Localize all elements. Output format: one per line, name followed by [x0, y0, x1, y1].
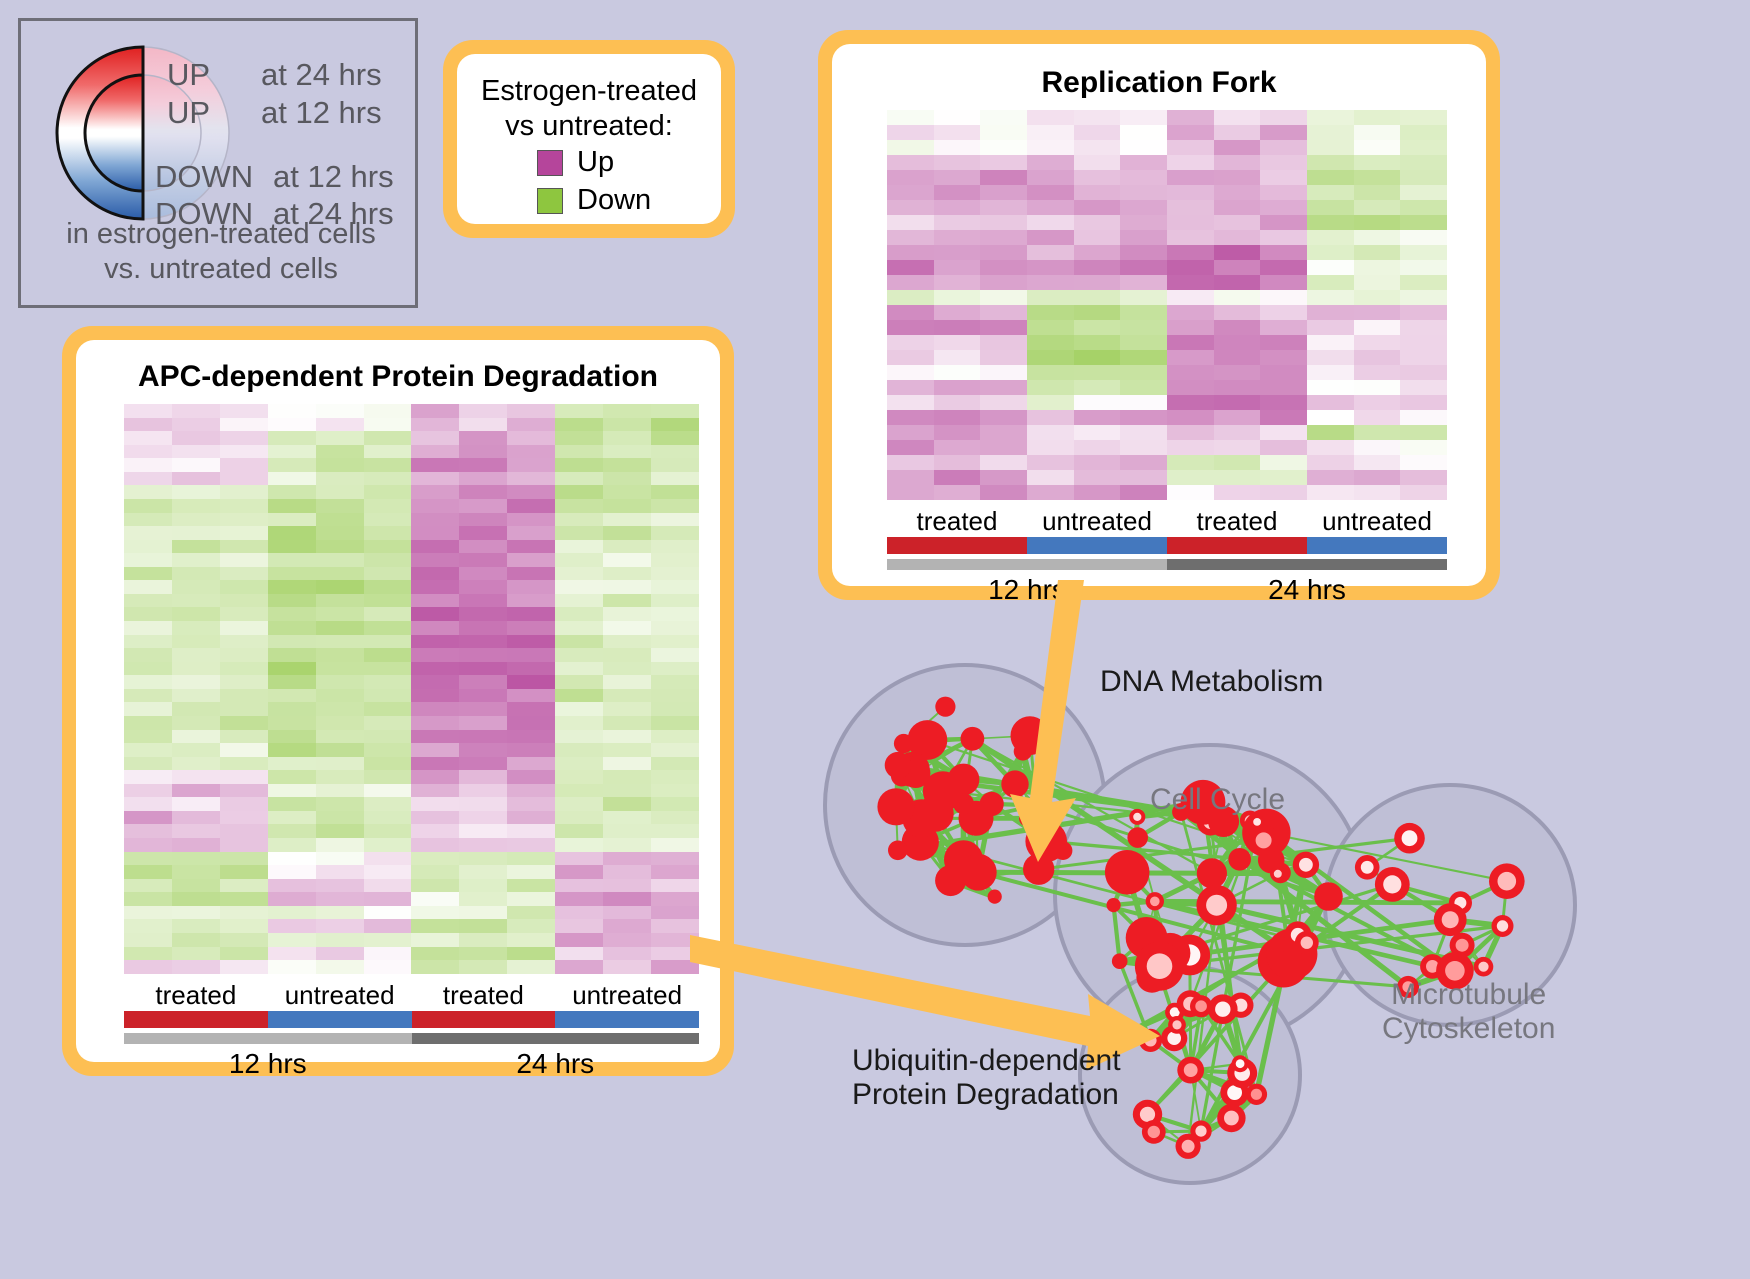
network-node[interactable] — [894, 734, 913, 753]
network-node[interactable] — [1127, 827, 1148, 848]
heatmap-cell — [1120, 140, 1167, 155]
heatmap-cell — [1120, 305, 1167, 320]
heatmap-cell — [1214, 245, 1261, 260]
heatmap-cell — [651, 960, 699, 974]
heatmap-cell — [1307, 485, 1354, 500]
network-node[interactable] — [1394, 823, 1425, 854]
network-node[interactable] — [1492, 915, 1514, 937]
treatment-bar-segment — [124, 1011, 268, 1028]
heatmap-cell — [1354, 425, 1401, 440]
heatmap-cell — [507, 513, 555, 527]
network-node[interactable] — [1375, 867, 1410, 902]
heatmap-cell — [1120, 455, 1167, 470]
heatmap-cell — [411, 716, 459, 730]
heatmap-column — [1354, 110, 1401, 500]
heatmap-cell — [172, 784, 220, 798]
heatmap-cell — [1120, 110, 1167, 125]
heatmap-cell — [1307, 350, 1354, 365]
network-node[interactable] — [1135, 942, 1184, 991]
network-node[interactable] — [1295, 931, 1319, 955]
heatmap-cell — [220, 513, 268, 527]
network-node[interactable] — [888, 841, 908, 861]
heatmap-cell — [651, 770, 699, 784]
heatmap-cell — [172, 743, 220, 757]
heatmap-cell — [364, 838, 412, 852]
heatmap-cell — [1400, 365, 1447, 380]
heatmap-cell — [459, 431, 507, 445]
heatmap-cell — [1027, 395, 1074, 410]
heatmap-cell — [1167, 335, 1214, 350]
network-node[interactable] — [1142, 1120, 1166, 1144]
heatmap-cell — [268, 730, 316, 744]
heatmap-cell — [1354, 185, 1401, 200]
heatmap-cell — [268, 919, 316, 933]
heatmap-cell — [364, 811, 412, 825]
heatmap-cell — [220, 879, 268, 893]
heatmap-cell — [220, 716, 268, 730]
network-node[interactable] — [1105, 850, 1150, 895]
heatmap-cell — [603, 757, 651, 771]
key-label-down: Down — [577, 184, 651, 217]
heatmap-cell — [268, 580, 316, 594]
heatmap-cell — [411, 635, 459, 649]
heatmap-cell — [459, 404, 507, 418]
heatmap-cell — [1354, 290, 1401, 305]
heatmap-cell — [1260, 350, 1307, 365]
heatmap-cell — [555, 675, 603, 689]
heatmap-cell — [459, 702, 507, 716]
heatmap-cell — [1307, 320, 1354, 335]
heatmap-cell — [220, 499, 268, 513]
network-node[interactable] — [1208, 994, 1238, 1024]
network-node[interactable] — [988, 890, 1002, 904]
heatmap-cell — [316, 458, 364, 472]
heatmap-cell — [459, 635, 507, 649]
heatmap-cell — [555, 404, 603, 418]
network-node[interactable] — [1197, 858, 1227, 888]
heatmap-cell — [220, 607, 268, 621]
heatmap-cell — [651, 418, 699, 432]
heatmap-cell — [459, 919, 507, 933]
heatmap-cell — [1027, 440, 1074, 455]
heatmap-cell — [980, 245, 1027, 260]
network-node[interactable] — [1146, 892, 1164, 910]
heatmap-cell — [651, 743, 699, 757]
heatmap-cell — [1027, 365, 1074, 380]
heatmap-cell — [411, 784, 459, 798]
heatmap-cell — [507, 621, 555, 635]
heatmap-cell — [980, 215, 1027, 230]
heatmap-cell — [507, 553, 555, 567]
heatmap-cell — [1400, 470, 1447, 485]
heatmap-cell — [1167, 305, 1214, 320]
heatmap-cell — [1167, 455, 1214, 470]
time-bar-segment — [124, 1033, 412, 1044]
heatmap-cell — [364, 567, 412, 581]
key-title-line2: vs untreated: — [457, 109, 721, 144]
heatmap-cell — [1120, 335, 1167, 350]
heatmap-column — [1027, 110, 1074, 500]
heatmap-cell — [1214, 290, 1261, 305]
network-node[interactable] — [1434, 903, 1467, 936]
heatmap-cell — [1354, 380, 1401, 395]
heatmap-cell — [980, 365, 1027, 380]
heatmap-cell — [651, 458, 699, 472]
network-node[interactable] — [1001, 770, 1028, 797]
heatmap-cell — [1354, 170, 1401, 185]
network-node[interactable] — [1177, 1057, 1204, 1084]
heatmap-cell — [651, 811, 699, 825]
heatmap-cell — [220, 580, 268, 594]
heatmap-cell — [887, 275, 934, 290]
network-node[interactable] — [1196, 885, 1236, 925]
heatmap-cell — [1167, 200, 1214, 215]
heatmap-cell — [980, 455, 1027, 470]
heatmap-cell — [603, 933, 651, 947]
key-panel-inner: Estrogen-treated vs untreated: Up Down — [457, 54, 721, 224]
heatmap-cell — [124, 947, 172, 961]
heatmap-cell — [172, 919, 220, 933]
heatmap-cell — [411, 472, 459, 486]
network-node[interactable] — [935, 865, 966, 896]
heatmap-cell — [124, 811, 172, 825]
network-node[interactable] — [1014, 742, 1032, 760]
heatmap-cell — [268, 635, 316, 649]
network-node[interactable] — [961, 727, 985, 751]
heatmap-cell — [1400, 425, 1447, 440]
heatmap-cell — [555, 526, 603, 540]
heatmap-cell — [1167, 470, 1214, 485]
heatmap-cell — [459, 933, 507, 947]
heatmap-cell — [1120, 200, 1167, 215]
heatmap-cell — [268, 404, 316, 418]
heatmap-cell — [603, 580, 651, 594]
heatmap-cell — [316, 811, 364, 825]
key-swatch-up-icon — [537, 150, 563, 176]
heatmap-cell — [459, 947, 507, 961]
heatmap-cell — [1120, 245, 1167, 260]
heatmap-cell — [172, 648, 220, 662]
heatmap-cell — [507, 458, 555, 472]
network-node[interactable] — [1139, 1029, 1162, 1052]
heatmap-cell — [651, 567, 699, 581]
heatmap-cell — [651, 648, 699, 662]
heatmap-column — [934, 110, 981, 500]
heatmap-cell — [411, 513, 459, 527]
heatmap-cell — [364, 675, 412, 689]
heatmap-cell — [411, 458, 459, 472]
heatmap-cell — [172, 458, 220, 472]
heatmap-cell — [411, 770, 459, 784]
heatmap-cell — [555, 513, 603, 527]
heatmap-cell — [934, 290, 981, 305]
heatmap-cell — [1307, 155, 1354, 170]
heatmap-cell — [268, 716, 316, 730]
heatmap-cell — [555, 824, 603, 838]
network-node[interactable] — [1246, 1084, 1267, 1105]
heatmap-cell — [1354, 155, 1401, 170]
heatmap-column — [459, 404, 507, 974]
network-node[interactable] — [1474, 957, 1494, 977]
heatmap-cell — [1167, 290, 1214, 305]
heatmap-cell — [1120, 170, 1167, 185]
heatmap-cell — [603, 540, 651, 554]
heatmap-cell — [172, 852, 220, 866]
heatmap-cell — [316, 689, 364, 703]
heatmap-replication-fork — [887, 110, 1447, 500]
heatmap-cell — [1354, 260, 1401, 275]
heatmap-cell — [651, 445, 699, 459]
heatmap-cell — [1167, 275, 1214, 290]
heatmap-cell — [220, 919, 268, 933]
heatmap-cell — [1400, 290, 1447, 305]
heatmap-cell — [172, 540, 220, 554]
panel-apc-inner: APC-dependent Protein Degradation treate… — [76, 340, 720, 1062]
network-node[interactable] — [1270, 866, 1285, 881]
heatmap-cell — [220, 540, 268, 554]
heatmap-cell — [1214, 185, 1261, 200]
heatmap-cell — [268, 933, 316, 947]
heatmap-cell — [1167, 350, 1214, 365]
heatmap-cell — [220, 730, 268, 744]
legend-time-down-12: at 12 hrs — [273, 159, 394, 195]
heatmap-column — [1400, 110, 1447, 500]
network-node[interactable] — [1112, 953, 1128, 969]
heatmap-cell — [1354, 335, 1401, 350]
heatmap-cell — [651, 513, 699, 527]
heatmap-cell — [651, 621, 699, 635]
heatmap-cell — [651, 675, 699, 689]
heatmap-cell — [268, 485, 316, 499]
heatmap-cell — [934, 320, 981, 335]
heatmap-cell — [124, 431, 172, 445]
heatmap-cell — [459, 892, 507, 906]
network-node[interactable] — [1023, 854, 1054, 885]
network-node[interactable] — [1168, 1016, 1186, 1034]
legend-term-up-24: UP — [167, 57, 210, 93]
heatmap-cell — [887, 365, 934, 380]
heatmap-cell — [1214, 380, 1261, 395]
heatmap-cell — [411, 580, 459, 594]
heatmap-cell — [507, 919, 555, 933]
network-node[interactable] — [1314, 882, 1343, 911]
heatmap-cell — [316, 919, 364, 933]
heatmap-cell — [316, 540, 364, 554]
network-node[interactable] — [1248, 825, 1279, 856]
heatmap-cell — [459, 567, 507, 581]
heatmap-cell — [1354, 320, 1401, 335]
heatmap-cell — [364, 689, 412, 703]
heatmap-cell — [887, 245, 934, 260]
heatmap-cell — [411, 852, 459, 866]
network-node[interactable] — [1129, 809, 1145, 825]
heatmap-cell — [411, 879, 459, 893]
treatment-bar-segment — [1027, 537, 1167, 554]
heatmap-cell — [172, 431, 220, 445]
network-node[interactable] — [877, 788, 914, 825]
network-node[interactable] — [1355, 855, 1380, 880]
heatmap-cell — [268, 648, 316, 662]
heatmap-cell — [172, 892, 220, 906]
heatmap-cell — [980, 125, 1027, 140]
heatmap-cell — [316, 702, 364, 716]
heatmap-cell — [411, 404, 459, 418]
heatmap-cell — [364, 852, 412, 866]
treatment-bar-segment — [268, 1011, 412, 1028]
heatmap-cell — [980, 200, 1027, 215]
heatmap-cell — [603, 621, 651, 635]
heatmap-cell — [316, 431, 364, 445]
heatmap-cell — [651, 947, 699, 961]
heatmap-cell — [124, 797, 172, 811]
heatmap-cell — [172, 906, 220, 920]
heatmap-cell — [172, 594, 220, 608]
heatmap-cell — [172, 933, 220, 947]
network-node[interactable] — [1489, 863, 1525, 899]
heatmap-cell — [268, 689, 316, 703]
heatmap-cell — [124, 675, 172, 689]
heatmap-cell — [1260, 395, 1307, 410]
heatmap-cell — [1027, 215, 1074, 230]
heatmap-cell — [1120, 320, 1167, 335]
heatmap-cell — [555, 838, 603, 852]
heatmap-cell — [507, 797, 555, 811]
heatmap-cell — [1214, 170, 1261, 185]
heatmap-cell — [555, 865, 603, 879]
network-node[interactable] — [1217, 1104, 1245, 1132]
heatmap-cell — [1400, 395, 1447, 410]
heatmap-cell — [172, 404, 220, 418]
heatmap-cell — [1260, 290, 1307, 305]
heatmap-cell — [268, 621, 316, 635]
heatmap-cell — [651, 906, 699, 920]
heatmap-cell — [316, 906, 364, 920]
heatmap-cell — [268, 607, 316, 621]
heatmap-cell — [316, 526, 364, 540]
heatmap-cell — [887, 155, 934, 170]
heatmap-cell — [268, 458, 316, 472]
heatmap-cell — [603, 865, 651, 879]
heatmap-cell — [268, 947, 316, 961]
heatmap-cell — [1027, 200, 1074, 215]
heatmap-cell — [1260, 110, 1307, 125]
network-node[interactable] — [1293, 852, 1319, 878]
heatmap-cell — [1074, 335, 1121, 350]
heatmap-column — [651, 404, 699, 974]
heatmap-cell — [316, 797, 364, 811]
heatmap-cell — [507, 879, 555, 893]
heatmap-cell — [1120, 485, 1167, 500]
heatmap-cell — [268, 784, 316, 798]
heatmap-cell — [364, 757, 412, 771]
heatmap-cell — [1260, 470, 1307, 485]
heatmap-cell — [603, 811, 651, 825]
heatmap-cell — [316, 960, 364, 974]
network-node[interactable] — [1190, 995, 1212, 1017]
heatmap-cell — [1167, 110, 1214, 125]
heatmap-cell — [980, 335, 1027, 350]
heatmap-cell — [603, 404, 651, 418]
heatmap-cell — [980, 380, 1027, 395]
heatmap-cell — [172, 865, 220, 879]
network-node[interactable] — [1029, 798, 1044, 813]
network-node[interactable] — [885, 752, 912, 779]
heatmap-cell — [268, 553, 316, 567]
heatmap-cell — [124, 499, 172, 513]
heatmap-cell — [603, 892, 651, 906]
heatmap-cell — [980, 170, 1027, 185]
heatmap-cell — [220, 485, 268, 499]
heatmap-cell — [124, 648, 172, 662]
heatmap-cell — [316, 445, 364, 459]
heatmap-column — [220, 404, 268, 974]
heatmap-cell — [603, 852, 651, 866]
heatmap-cell — [364, 540, 412, 554]
network-node[interactable] — [1176, 1134, 1201, 1159]
heatmap-cell — [1074, 230, 1121, 245]
network-node[interactable] — [1232, 1055, 1249, 1072]
panel-title-apc: APC-dependent Protein Degradation — [76, 360, 720, 394]
time-label: 24 hrs — [1167, 574, 1447, 606]
heatmap-cell — [887, 110, 934, 125]
heatmap-cell — [603, 919, 651, 933]
heatmap-cell — [172, 621, 220, 635]
heatmap-cell — [1120, 155, 1167, 170]
heatmap-cell — [1400, 245, 1447, 260]
heatmap-cell — [172, 580, 220, 594]
network-node[interactable] — [935, 697, 955, 717]
heatmap-cell — [316, 621, 364, 635]
network-node[interactable] — [1107, 898, 1121, 912]
heatmap-cell — [603, 526, 651, 540]
heatmap-cell — [651, 892, 699, 906]
heatmap-cell — [1027, 110, 1074, 125]
heatmap-cell — [1074, 365, 1121, 380]
axis-group-label: untreated — [268, 980, 412, 1011]
heatmap-column — [124, 404, 172, 974]
heatmap-cell — [1074, 185, 1121, 200]
heatmap-cell — [1307, 290, 1354, 305]
heatmap-cell — [1214, 350, 1261, 365]
heatmap-cell — [1167, 155, 1214, 170]
heatmap-cell — [1214, 110, 1261, 125]
heatmap-cell — [268, 540, 316, 554]
heatmap-cell — [364, 580, 412, 594]
heatmap-cell — [555, 906, 603, 920]
heatmap-cell — [316, 499, 364, 513]
heatmap-cell — [220, 824, 268, 838]
heatmap-cell — [1400, 380, 1447, 395]
heatmap-cell — [172, 689, 220, 703]
heatmap-cell — [555, 757, 603, 771]
heatmap-cell — [459, 485, 507, 499]
heatmap-cell — [507, 567, 555, 581]
heatmap-cell — [1354, 395, 1401, 410]
heatmap-cell — [411, 621, 459, 635]
heatmap-cell — [1260, 245, 1307, 260]
heatmap-cell — [603, 458, 651, 472]
heatmap-cell — [980, 395, 1027, 410]
heatmap-cell — [1027, 410, 1074, 425]
heatmap-cell — [1167, 440, 1214, 455]
key-swatch-down-icon — [537, 188, 563, 214]
heatmap-cell — [1120, 380, 1167, 395]
heatmap-cell — [603, 431, 651, 445]
heatmap-cell — [364, 933, 412, 947]
network-node[interactable] — [1228, 848, 1251, 871]
heatmap-cell — [1400, 110, 1447, 125]
heatmap-cell — [1260, 230, 1307, 245]
